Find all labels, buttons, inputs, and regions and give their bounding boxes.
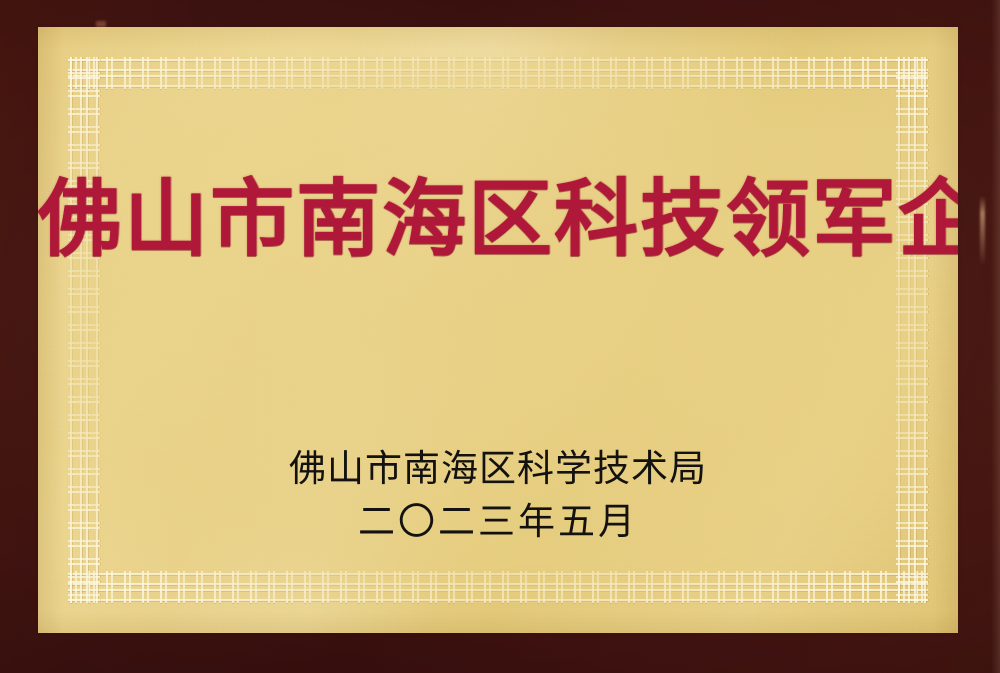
plate-text-content: 佛山市南海区科技领军企业 佛山市南海区科学技术局 二〇二三年五月 xyxy=(38,27,958,633)
plaque-issuer-block: 佛山市南海区科学技术局 二〇二三年五月 xyxy=(38,445,958,546)
issuing-organization: 佛山市南海区科学技术局 xyxy=(38,445,958,492)
award-plaque-photo: 佛山市南海区科技领军企业 佛山市南海区科学技术局 二〇二三年五月 xyxy=(0,0,1000,673)
plaque-title: 佛山市南海区科技领军企业 xyxy=(38,177,958,261)
gold-plate: 佛山市南海区科技领军企业 佛山市南海区科学技术局 二〇二三年五月 xyxy=(38,27,958,633)
issue-date: 二〇二三年五月 xyxy=(38,498,958,545)
